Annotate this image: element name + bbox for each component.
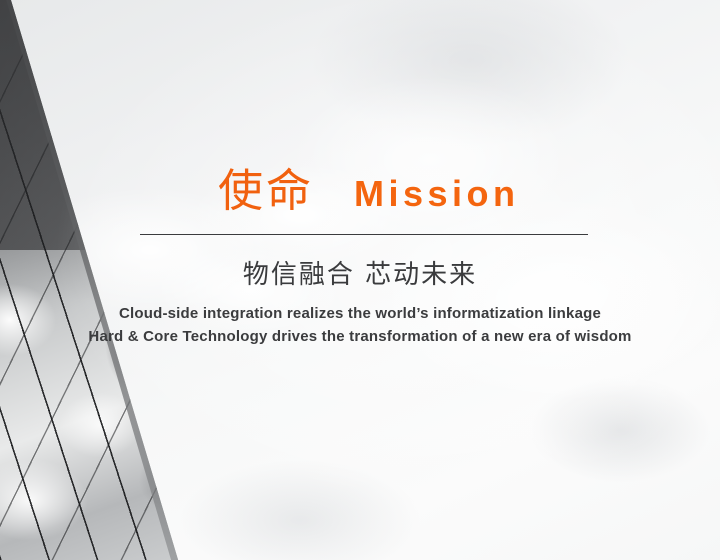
- heading-divider-rule: [140, 234, 588, 235]
- tagline-group: Cloud-side integration realizes the worl…: [0, 302, 720, 348]
- tagline-line-2: Hard & Core Technology drives the transf…: [0, 325, 720, 348]
- heading-title-english: Mission: [354, 176, 520, 212]
- heading-title-chinese: 使命: [218, 168, 314, 213]
- subtitle-chinese: 物信融合 芯动未来: [0, 258, 720, 292]
- tagline-line-1: Cloud-side integration realizes the worl…: [0, 302, 720, 325]
- banner-content: 使命 Mission 物信融合 芯动未来 Cloud-side integrat…: [0, 0, 720, 560]
- mission-banner: 使命 Mission 物信融合 芯动未来 Cloud-side integrat…: [0, 0, 720, 560]
- heading-row: 使命 Mission: [140, 168, 520, 213]
